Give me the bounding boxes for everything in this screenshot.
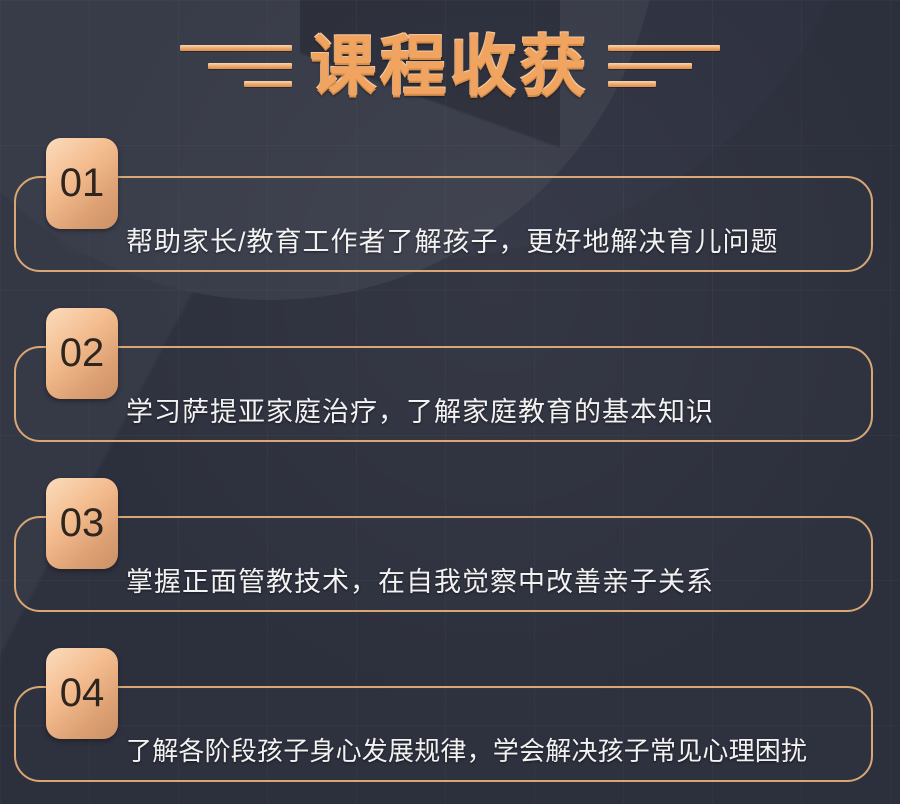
benefit-number-badge: 04: [46, 648, 118, 739]
benefit-text: 帮助家长/教育工作者了解孩子，更好地解决育儿问题: [126, 226, 866, 258]
benefit-number-badge: 03: [46, 478, 118, 569]
benefit-text: 了解各阶段孩子身心发展规律，学会解决孩子常见心理困扰: [126, 736, 866, 767]
course-benefits-poster: 课程收获 帮助家长/教育工作者了解孩子，更好地解决育儿问题 01 学习萨提亚家庭…: [0, 0, 900, 804]
list-item: 学习萨提亚家庭治疗，了解家庭教育的基本知识 02: [14, 346, 873, 442]
benefit-number: 04: [60, 671, 105, 716]
benefit-text: 学习萨提亚家庭治疗，了解家庭教育的基本知识: [126, 396, 866, 428]
list-item: 掌握正面管教技术，在自我觉察中改善亲子关系 03: [14, 516, 873, 612]
benefit-number: 02: [60, 331, 105, 376]
benefit-number-badge: 01: [46, 138, 118, 229]
benefit-list: 帮助家长/教育工作者了解孩子，更好地解决育儿问题 01 学习萨提亚家庭治疗，了解…: [0, 0, 900, 804]
benefit-number: 01: [60, 161, 105, 206]
benefit-number: 03: [60, 501, 105, 546]
list-item: 帮助家长/教育工作者了解孩子，更好地解决育儿问题 01: [14, 176, 873, 272]
benefit-card: [14, 686, 873, 782]
benefit-text: 掌握正面管教技术，在自我觉察中改善亲子关系: [126, 566, 866, 598]
benefit-number-badge: 02: [46, 308, 118, 399]
list-item: 了解各阶段孩子身心发展规律，学会解决孩子常见心理困扰 04: [14, 686, 873, 782]
